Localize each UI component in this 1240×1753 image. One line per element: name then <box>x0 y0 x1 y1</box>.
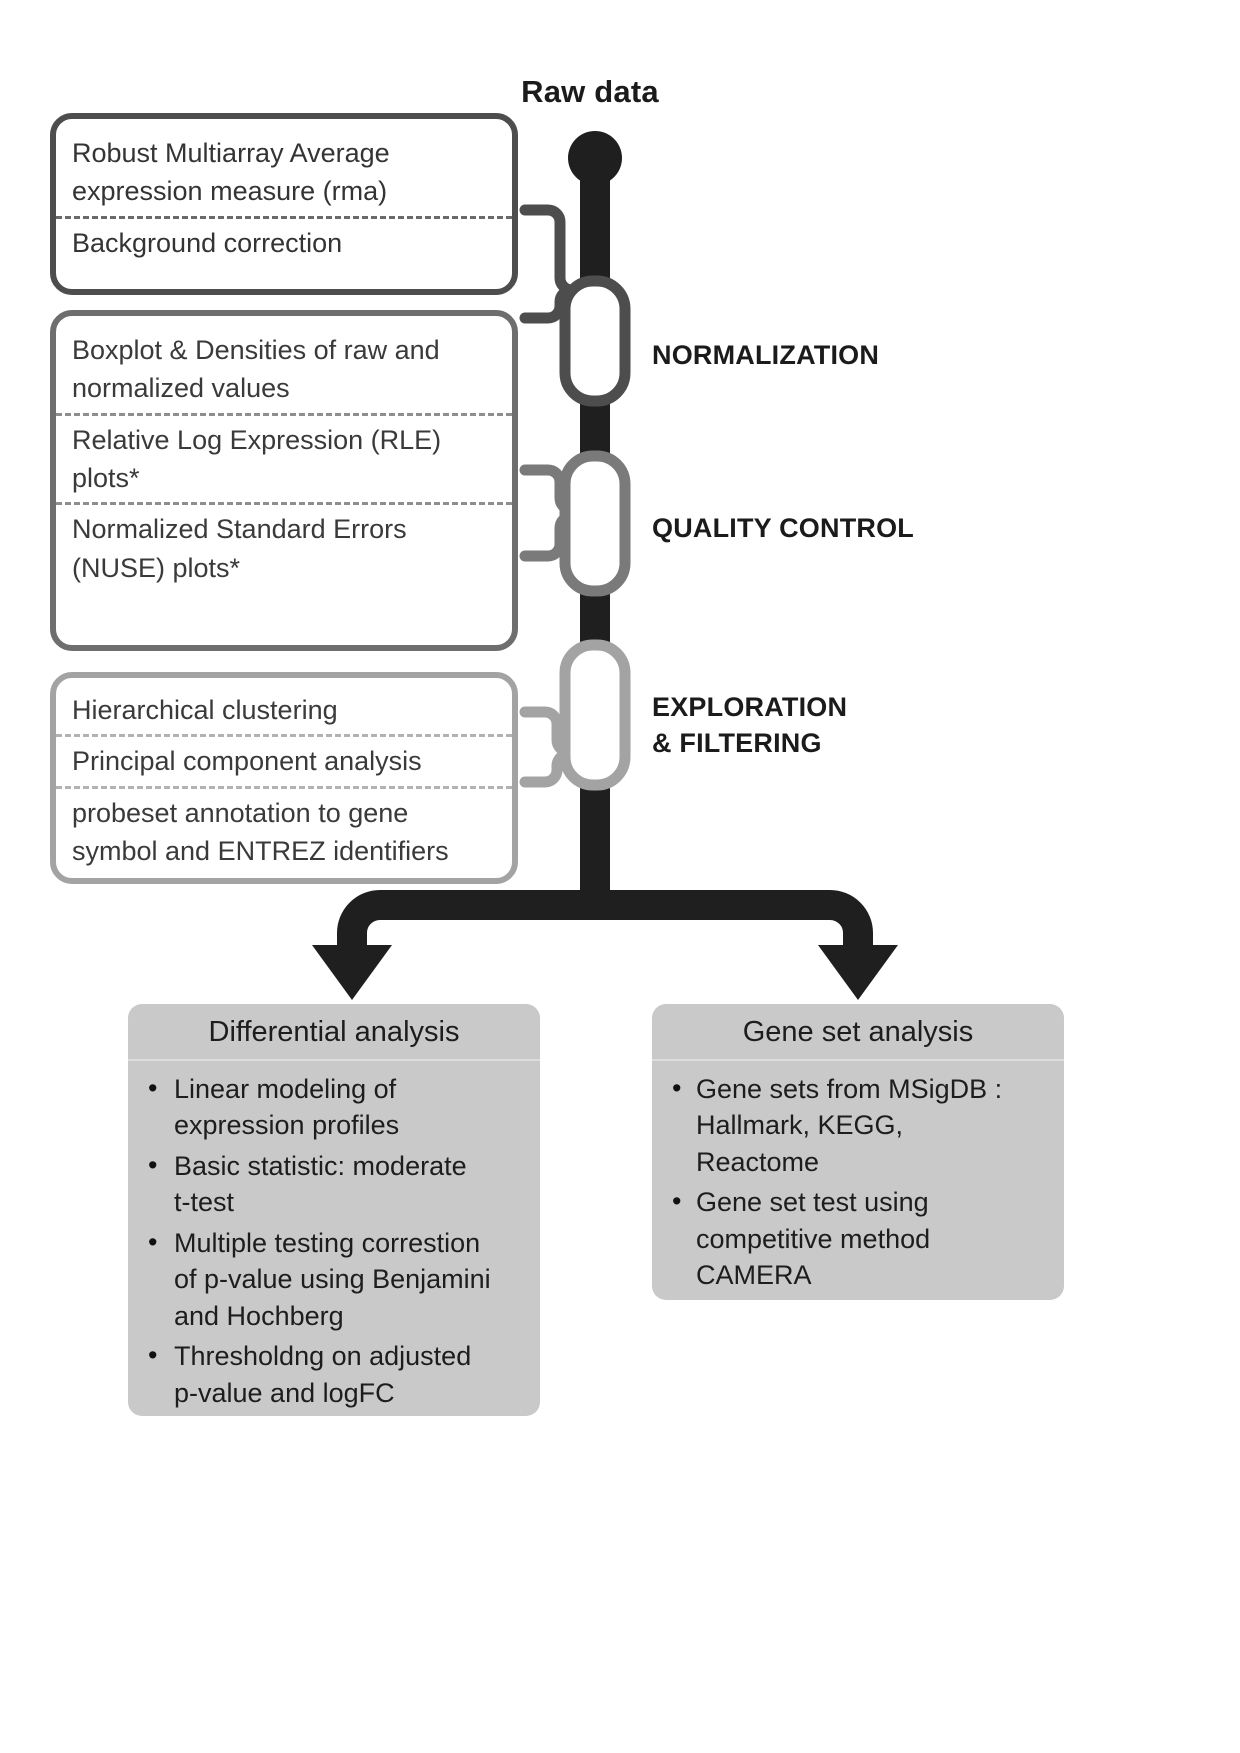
stage-label-normalization: NORMALIZATION <box>652 338 879 374</box>
stage-panel-exploration: Hierarchical clustering Principal compon… <box>50 672 518 884</box>
panel-row: probeset annotation to gene symbol and E… <box>56 786 512 876</box>
panel-row: Principal component analysis <box>56 734 512 785</box>
page-title: Raw data <box>470 74 710 110</box>
output-box-differential-analysis: Differential analysis Linear modeling of… <box>128 1004 540 1416</box>
output-list: Gene sets from MSigDB : Hallmark, KEGG, … <box>652 1061 1064 1300</box>
branch-left-arrowhead <box>312 945 392 1000</box>
stage-label-quality-control: QUALITY CONTROL <box>652 511 914 547</box>
output-box-gene-set-analysis: Gene set analysis Gene sets from MSigDB … <box>652 1004 1064 1300</box>
panel-row: Background correction <box>56 216 512 267</box>
panel-row: Boxplot & Densities of raw and normalize… <box>56 326 512 413</box>
list-item: Multiple testing correstion of p-value u… <box>142 1225 526 1334</box>
panel-row: Relative Log Expression (RLE) plots* <box>56 413 512 503</box>
list-item: Gene set test using competitive method C… <box>666 1184 1050 1293</box>
capsule-normalization <box>565 281 625 401</box>
panel-row: Hierarchical clustering <box>56 686 512 734</box>
output-list: Linear modeling of expression profiles B… <box>128 1061 540 1416</box>
list-item: Thresholdng on adjusted p-value and logF… <box>142 1338 526 1411</box>
branch-right-arrowhead <box>818 945 898 1000</box>
capsule-quality-control <box>565 456 625 591</box>
output-box-title: Gene set analysis <box>652 1004 1064 1061</box>
stage-panel-normalization: Robust Multiarray Average expression mea… <box>50 113 518 295</box>
capsule-exploration <box>565 645 625 785</box>
list-item: Gene sets from MSigDB : Hallmark, KEGG, … <box>666 1071 1050 1180</box>
raw-data-node <box>568 131 622 185</box>
list-item: Linear modeling of expression profiles <box>142 1071 526 1144</box>
panel-row: Robust Multiarray Average expression mea… <box>56 129 512 216</box>
stage-label-exploration: EXPLORATION & FILTERING <box>652 690 847 761</box>
list-item: Basic statistic: moderate t-test <box>142 1148 526 1221</box>
output-box-title: Differential analysis <box>128 1004 540 1061</box>
stage-panel-quality-control: Boxplot & Densities of raw and normalize… <box>50 310 518 651</box>
panel-row: Normalized Standard Errors (NUSE) plots* <box>56 502 512 592</box>
branch-right-line <box>595 905 858 955</box>
connector-normalization-top <box>525 210 572 290</box>
